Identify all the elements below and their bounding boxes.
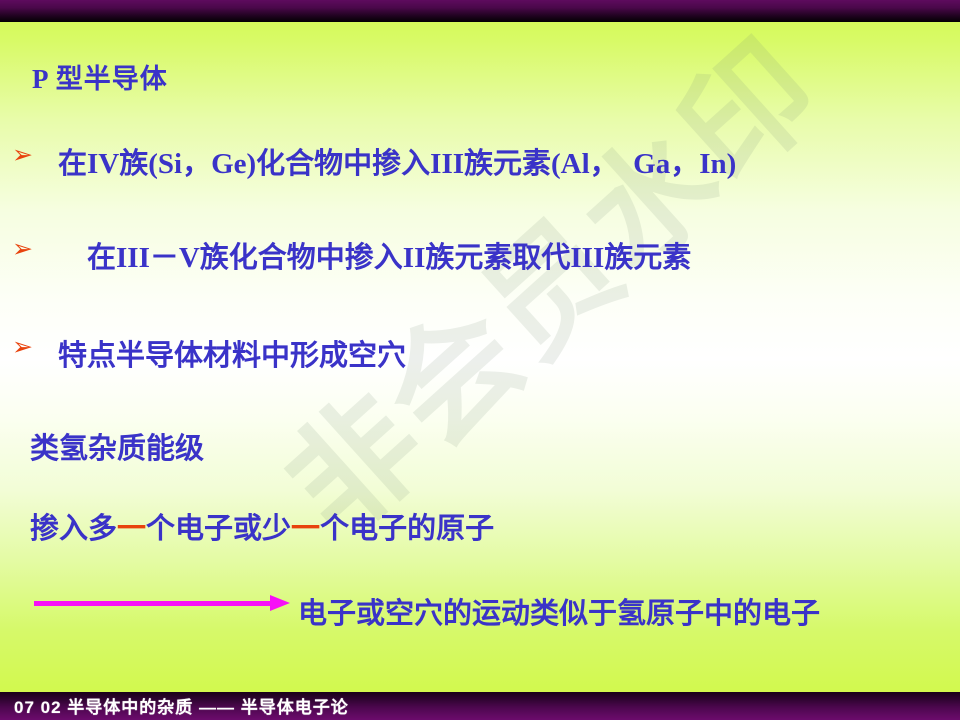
bullet-item-1: ➢在IV族(Si，Ge)化合物中掺入III族元素(Al， Ga，In) bbox=[12, 140, 736, 182]
doping-text-part-3: 个电子的原子 bbox=[320, 513, 494, 545]
page-title: P 型半导体 bbox=[32, 57, 168, 96]
body-line-doping-electron: 掺入多一个电子或少一个电子的原子 bbox=[30, 505, 494, 547]
doping-text-part-2: 个电子或少 bbox=[146, 513, 291, 545]
footer-bar: 07 02 半导体中的杂质 —— 半导体电子论 bbox=[0, 692, 960, 720]
bullet-arrow-icon: ➢ bbox=[12, 234, 58, 263]
slide-content: P 型半导体 ➢在IV族(Si，Ge)化合物中掺入III族元素(Al， Ga，I… bbox=[0, 22, 960, 692]
top-accent-bar bbox=[0, 0, 960, 22]
slide-canvas: 非会员水印 P 型半导体 ➢在IV族(Si，Ge)化合物中掺入III族元素(Al… bbox=[0, 0, 960, 720]
doping-text-part-1: 掺入多 bbox=[30, 513, 117, 545]
bullet-item-2-label: 在III－V族化合物中掺入II族元素取代III族元素 bbox=[58, 234, 691, 276]
bullet-item-1-label: 在IV族(Si，Ge)化合物中掺入III族元素(Al， Ga，In) bbox=[58, 140, 736, 182]
conclusion-text: 电子或空穴的运动类似于氢原子中的电子 bbox=[298, 590, 820, 632]
doping-highlight-1: 一 bbox=[117, 513, 146, 545]
bullet-item-2: ➢ 在III－V族化合物中掺入II族元素取代III族元素 bbox=[12, 234, 691, 276]
doping-highlight-2: 一 bbox=[291, 513, 320, 545]
bullet-item-3: ➢特点半导体材料中形成空穴 bbox=[12, 332, 406, 374]
bullet-arrow-icon: ➢ bbox=[12, 332, 58, 361]
arrow-shaft bbox=[34, 601, 272, 606]
footer-label: 07 02 半导体中的杂质 —— 半导体电子论 bbox=[14, 693, 349, 718]
bullet-item-3-label: 特点半导体材料中形成空穴 bbox=[58, 332, 406, 374]
body-line-hydrogenic-level: 类氢杂质能级 bbox=[30, 425, 204, 467]
bullet-arrow-icon: ➢ bbox=[12, 140, 58, 169]
right-arrow-icon bbox=[34, 590, 296, 616]
arrow-head bbox=[270, 595, 290, 611]
